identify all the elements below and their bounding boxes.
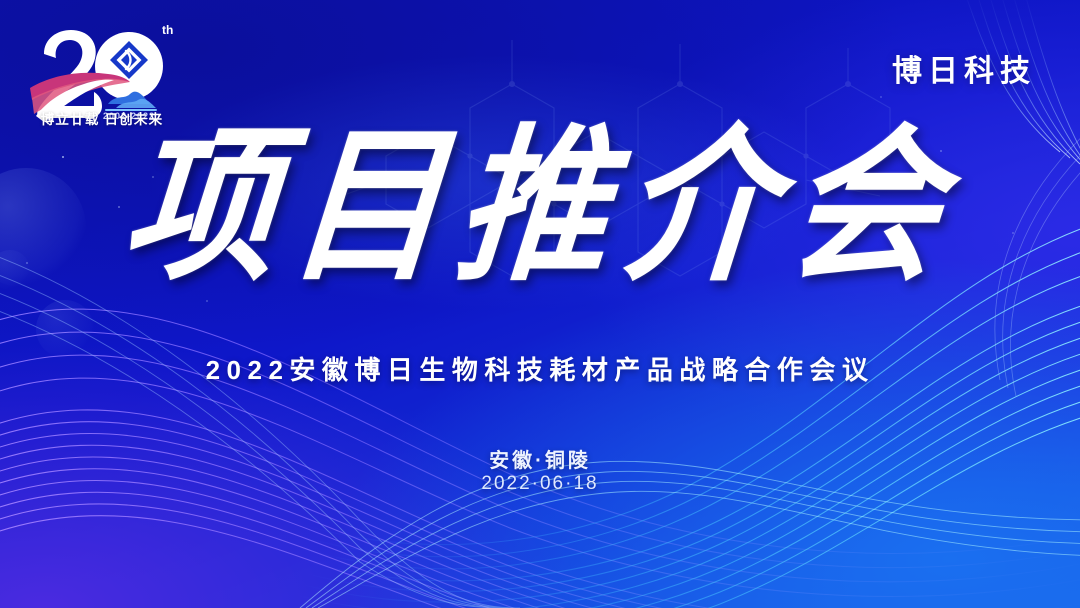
main-title: 项目推介会 (118, 124, 963, 291)
main-title-container: 项目推介会 (0, 132, 1080, 284)
anniversary-superscript: th (162, 23, 173, 37)
event-poster: th 2002-2022 博立廿载 日创未来 博日科技 项目推介会 2022安徽… (0, 0, 1080, 608)
brand-name: 博日科技 (892, 46, 1036, 90)
event-subtitle: 2022安徽博日生物科技耗材产品战略合作会议 (0, 350, 1080, 387)
event-location: 安徽·铜陵 (0, 444, 1080, 473)
event-date: 2022·06·18 (0, 473, 1080, 495)
